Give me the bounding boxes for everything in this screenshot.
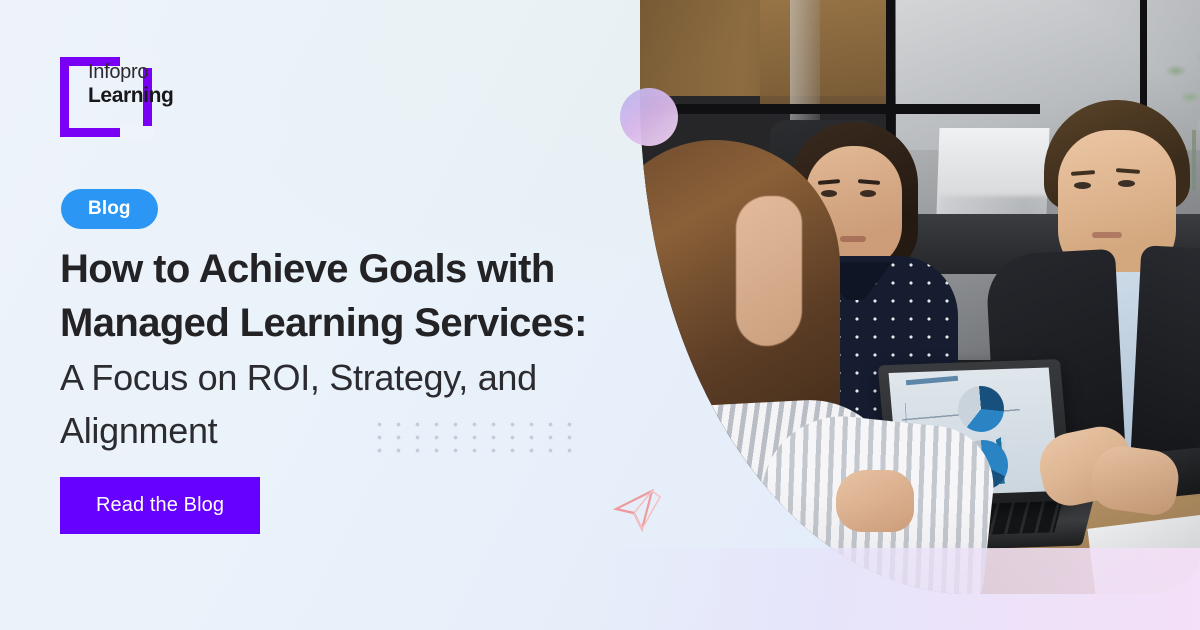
page-title: How to Achieve Goals with Managed Learni… xyxy=(60,243,650,350)
logo-text-learning: Learning xyxy=(88,85,173,106)
purple-circle-decoration xyxy=(620,88,678,146)
office-meeting-photo xyxy=(640,0,1200,594)
page-subtitle: A Focus on ROI, Strategy, and Alignment xyxy=(60,352,650,457)
banner-canvas: Infopro Learning Blog How to Achieve Goa… xyxy=(0,0,1200,630)
logo-wordmark[interactable]: Infopro Learning xyxy=(88,62,173,106)
logo-text-infopro: Infopro xyxy=(88,62,173,82)
logo-notch-bottom xyxy=(120,126,154,139)
category-badge-blog[interactable]: Blog xyxy=(61,189,158,229)
send-plane-icon xyxy=(612,483,668,535)
read-the-blog-button[interactable]: Read the Blog xyxy=(60,477,260,534)
hero-photo-panel xyxy=(640,0,1200,594)
photo-vignette xyxy=(640,0,1200,594)
